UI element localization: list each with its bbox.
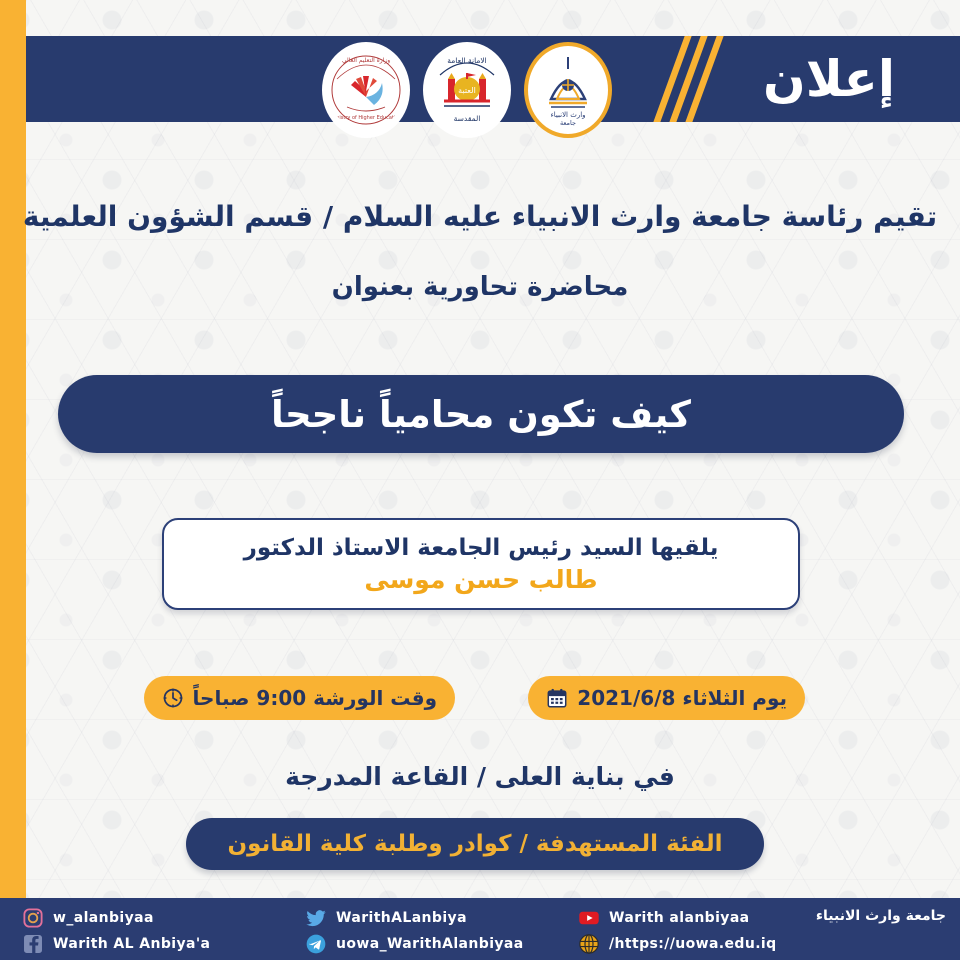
date-label: يوم الثلاثاء 2021/6/8 [577,686,787,710]
youtube-handle: Warith alanbiyaa [609,910,750,926]
svg-text:Ministry of Higher Education: Ministry of Higher Education [331,115,402,121]
banner-title: إعلان [724,34,934,124]
svg-text:وارث الانبياء: وارث الانبياء [550,111,585,119]
emblem-artwork: وارث الانبياء جامعة [531,49,605,131]
emblem-group: وارث الانبياء جامعة الامانة العامة [322,40,612,140]
svg-text:جامعة: جامعة [560,119,576,127]
audience-pill: الفئة المستهدفة / كوادر وطلبة كلية القان… [186,818,764,870]
facebook-icon [22,933,44,955]
svg-text:المقدسة: المقدسة [454,114,481,123]
clock-icon [162,687,184,709]
social-website[interactable]: /https://uowa.edu.iq [578,933,777,955]
time-pill: وقت الورشة 9:00 صباحاً [144,676,455,720]
date-pill: يوم الثلاثاء 2021/6/8 [528,676,805,720]
audience-label: الفئة المستهدفة / كوادر وطلبة كلية القان… [228,831,723,857]
svg-text:الامانة العامة: الامانة العامة [447,56,486,65]
twitter-icon [305,907,327,929]
al-abbas-holy-shrine-emblem: الامانة العامة العتبة المقدسة [423,42,511,138]
university-of-warith-al-anbiyaa-emblem: وارث الانبياء جامعة [524,42,612,138]
social-youtube[interactable]: Warith alanbiyaa [578,907,750,929]
social-twitter[interactable]: WarithALanbiya [305,907,467,929]
speaker-box: يلقيها السيد رئيس الجامعة الاستاذ الدكتو… [162,518,800,610]
telegram-icon [305,933,327,955]
calendar-icon [546,687,568,709]
website-url: /https://uowa.edu.iq [609,936,777,952]
lecture-title: كيف تكون محامياً ناجحاً [271,393,691,436]
venue-text: في بناية العلى / القاعة المدرجة [0,762,960,791]
announcement-poster: إعلان وارث الانبياء جامعة [0,0,960,960]
social-telegram[interactable]: uowa_WarithAlanbiyaa [305,933,524,955]
globe-icon [578,933,600,955]
instagram-handle: w_alanbiyaa [53,910,154,926]
background-watermark-pattern [0,0,960,960]
time-label: وقت الورشة 9:00 صباحاً [193,686,437,710]
intro-line-2: محاضرة تحاورية بعنوان [0,272,960,302]
background-watermark-dots [0,0,960,960]
twitter-handle: WarithALanbiya [336,910,467,926]
telegram-handle: uowa_WarithAlanbiyaa [336,936,524,952]
intro-line-1: تقيم رئاسة جامعة وارث الانبياء عليه السل… [0,200,960,233]
social-facebook[interactable]: Warith AL Anbiya'a [22,933,210,955]
lecture-title-pill: كيف تكون محامياً ناجحاً [58,375,904,453]
svg-text:وزارة التعليم العالي: وزارة التعليم العالي [342,57,390,64]
speaker-role: يلقيها السيد رئيس الجامعة الاستاذ الدكتو… [244,535,719,561]
emblem-artwork: الامانة العامة العتبة المقدسة [430,49,504,131]
social-instagram[interactable]: w_alanbiyaa [22,907,154,929]
facebook-handle: Warith AL Anbiya'a [53,936,210,952]
university-arabic-name: جامعة وارث الانبياء [816,908,946,924]
svg-text:العتبة: العتبة [458,86,476,95]
social-media-footer: w_alanbiyaa Warith AL Anbiya'a WarithALa… [0,898,960,960]
emblem-artwork: وزارة التعليم العالي Ministry of Higher … [329,49,403,131]
speaker-name: طالب حسن موسى [364,565,597,594]
youtube-icon [578,907,600,929]
ministry-of-higher-education-emblem: وزارة التعليم العالي Ministry of Higher … [322,42,410,138]
instagram-icon [22,907,44,929]
